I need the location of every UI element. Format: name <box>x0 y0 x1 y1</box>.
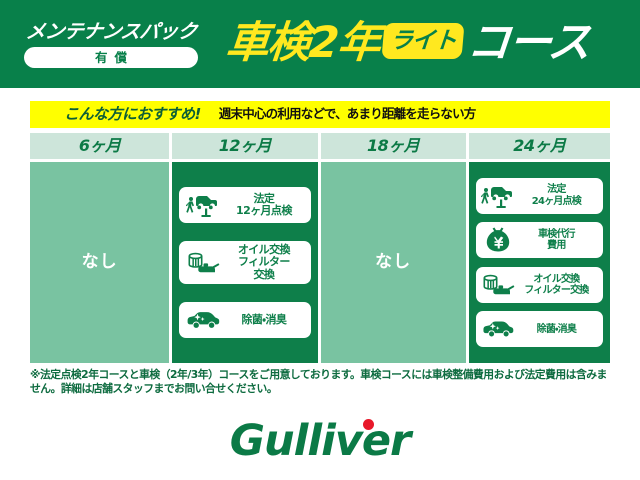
oil-filter-change-icon <box>481 270 515 300</box>
plan-column-header: 12ヶ月 <box>172 133 317 159</box>
gulliver-logo-dot-icon <box>363 419 374 430</box>
course-title-block: 車検2年 ライト コース <box>222 22 640 65</box>
plan-item: オイル交換 フィルター 交換 <box>179 241 310 284</box>
plan-item-label: オイル交換 フィルター交換 <box>515 274 598 296</box>
gulliver-logo: Gulliver <box>230 420 411 463</box>
plan-column-header: 24ヶ月 <box>469 133 610 159</box>
plan-column-4: 24ヶ月法定 24ヶ月点検車検代行 費用オイル交換 フィルター交換除菌・消臭 <box>469 133 610 363</box>
plan-column-body: なし <box>321 162 466 363</box>
light-badge-label: ライト <box>389 30 457 53</box>
footnote: ※法定点検2年コースと車検（2年/3年）コースをご用意しております。車検コースに… <box>30 368 614 397</box>
plan-column-header: 6ヶ月 <box>30 133 169 159</box>
plan-column-body: なし <box>30 162 169 363</box>
car-lift-inspection-icon <box>184 190 222 220</box>
recommend-description: 週末中心の利用などで、あまり距離を走らない方 <box>219 108 476 121</box>
plan-item-label: オイル交換 フィルター 交換 <box>222 244 305 281</box>
plan-item: 除菌・消臭 <box>179 302 310 338</box>
plan-item-label: 車検代行 費用 <box>515 229 598 251</box>
plan-item: 法定 24ヶ月点検 <box>476 178 603 214</box>
plan-item-label: 法定 12ヶ月点検 <box>222 193 305 218</box>
plan-item-label: 除菌・消臭 <box>515 324 598 335</box>
plan-item: 除菌・消臭 <box>476 311 603 347</box>
plan-item: オイル交換 フィルター交換 <box>476 267 603 303</box>
plan-column-header: 18ヶ月 <box>321 133 466 159</box>
car-lift-inspection-icon <box>481 181 515 211</box>
brand-block: メンテナンスパック 有償 <box>0 20 222 69</box>
plan-empty-label: なし <box>375 254 411 271</box>
plan-column-1: 6ヶ月なし <box>30 133 169 363</box>
oil-filter-change-icon <box>184 248 222 278</box>
brand-title: メンテナンスパック <box>24 22 197 42</box>
paid-pill: 有償 <box>24 47 198 68</box>
course-title-suffix: コース <box>465 22 591 65</box>
plan-column-header-label: 18ヶ月 <box>367 138 419 154</box>
car-sanitize-icon <box>184 305 222 335</box>
course-title-main: 車検2年 <box>224 22 381 65</box>
brand-logo-area: Gulliver <box>0 412 640 470</box>
header-band: メンテナンスパック 有償 車検2年 ライト コース <box>0 0 640 88</box>
plan-table: 6ヶ月なし12ヶ月法定 12ヶ月点検オイル交換 フィルター 交換除菌・消臭18ヶ… <box>30 133 610 363</box>
plan-column-header-label: 12ヶ月 <box>219 138 271 154</box>
light-badge: ライト <box>381 23 464 59</box>
plan-column-header-label: 24ヶ月 <box>513 138 565 154</box>
plan-item: 法定 12ヶ月点検 <box>179 187 310 223</box>
car-sanitize-icon <box>481 314 515 344</box>
money-bag-yen-icon <box>481 225 515 255</box>
plan-column-3: 18ヶ月なし <box>321 133 466 363</box>
plan-item-label: 法定 24ヶ月点検 <box>515 184 598 206</box>
plan-column-body: 法定 12ヶ月点検オイル交換 フィルター 交換除菌・消臭 <box>172 162 317 363</box>
plan-column-body: 法定 24ヶ月点検車検代行 費用オイル交換 フィルター交換除菌・消臭 <box>469 162 610 363</box>
paid-pill-label: 有償 <box>88 52 134 65</box>
recommend-bar: こんな方におすすめ! 週末中心の利用などで、あまり距離を走らない方 <box>30 101 610 128</box>
recommend-title: こんな方におすすめ! <box>64 107 201 122</box>
plan-item-label: 除菌・消臭 <box>222 314 305 326</box>
plan-empty-label: なし <box>82 254 118 271</box>
plan-column-header-label: 6ヶ月 <box>79 138 121 154</box>
plan-column-2: 12ヶ月法定 12ヶ月点検オイル交換 フィルター 交換除菌・消臭 <box>172 133 317 363</box>
gulliver-logo-text: Gulliver <box>230 416 411 466</box>
promo-poster: メンテナンスパック 有償 車検2年 ライト コース こんな方におすすめ! 週末中… <box>0 0 640 480</box>
plan-item: 車検代行 費用 <box>476 222 603 258</box>
